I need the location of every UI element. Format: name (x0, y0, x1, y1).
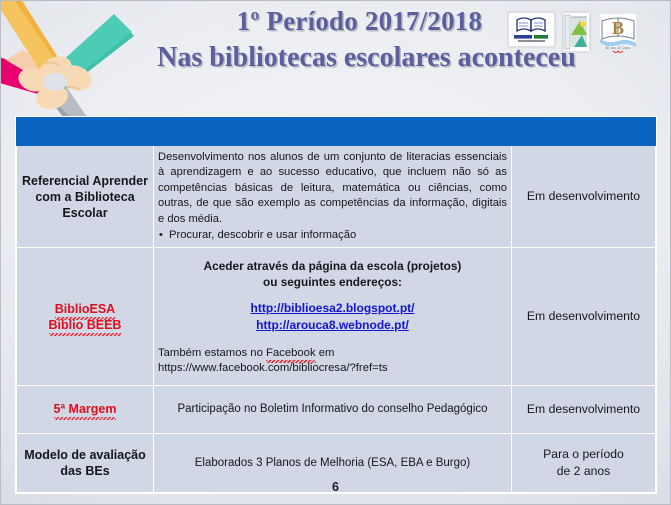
biblioteca-b-book-logo: B BE dos 2/3 Ciclos (598, 12, 638, 54)
facebook-word: Facebook (266, 346, 316, 361)
row-label-referencial: Referencial Aprender com a Biblioteca Es… (17, 146, 154, 248)
row-body-intro-line2: ou seguintes endereços: (158, 274, 507, 290)
row-label-biblioesa: BiblioESA Biblio BEEB (17, 248, 154, 386)
table-header-cell-3 (512, 118, 656, 146)
link-biblioesa2-blogspot[interactable]: http://biblioesa2.blogspot.pt/ (158, 300, 507, 317)
table-row: BiblioESA Biblio BEEB Aceder através da … (17, 248, 656, 386)
table-header-cell-1 (17, 118, 154, 146)
table-row: 5ª Margem Participação no Boletim Inform… (17, 386, 656, 433)
table-header-cell-2 (154, 118, 512, 146)
row-status-quinta-margem: Em desenvolvimento (512, 386, 656, 433)
row-body-intro-line1: Aceder através da página da escola (proj… (158, 258, 507, 274)
table-header-bar (17, 118, 656, 146)
row-body-links: http://biblioesa2.blogspot.pt/ http://ar… (158, 300, 507, 334)
row-label-biblioesa-line1: BiblioESA (55, 301, 115, 317)
row-body-paragraph: Desenvolvimento nos alunos de um conjunt… (158, 150, 507, 228)
table-row: Referencial Aprender com a Biblioteca Es… (17, 146, 656, 248)
row-status-line1: Para o período (543, 447, 624, 461)
row-label-biblioesa-line2: Biblio BEEB (49, 317, 122, 333)
facebook-text-before: Também estamos no (158, 347, 266, 359)
page-number: 6 (0, 480, 671, 494)
row-body-biblioesa: Aceder através da página da escola (proj… (154, 248, 512, 386)
row-label-quinta-margem: 5ª Margem (17, 386, 154, 433)
svg-text:B: B (612, 18, 624, 38)
row-status-biblioesa: Em desenvolvimento (512, 248, 656, 386)
logo-group: B BE dos 2/3 Ciclos (508, 12, 638, 54)
row-status-line2: de 2 anos (557, 464, 611, 478)
svg-text:BE dos 2/3 Ciclos: BE dos 2/3 Ciclos (605, 46, 631, 50)
activities-table: Referencial Aprender com a Biblioteca Es… (16, 117, 656, 493)
rbe-green-book-logo (563, 12, 590, 52)
row-label-quinta-margem-text: 5ª Margem (54, 401, 117, 417)
row-body-quinta-margem: Participação no Boletim Informativo do c… (154, 386, 512, 433)
row-body-facebook-line1: Também estamos no Facebook em (158, 346, 507, 361)
row-body-referencial: Desenvolvimento nos alunos de um conjunt… (154, 146, 512, 248)
slide: 1º Período 2017/2018 Nas bibliotecas esc… (0, 0, 671, 505)
link-arouca8-webnode[interactable]: http://arouca8.webnode.pt/ (158, 317, 507, 334)
row-body-bullet: Procurar, descobrir e usar informação (158, 228, 507, 244)
row-status-referencial: Em desenvolvimento (512, 146, 656, 248)
row-body-facebook-url: https://www.facebook.com/bibliocresa/?fr… (158, 361, 507, 376)
biblioteca-centro-de-recursos-logo (508, 12, 555, 47)
facebook-text-after: em (316, 347, 335, 359)
